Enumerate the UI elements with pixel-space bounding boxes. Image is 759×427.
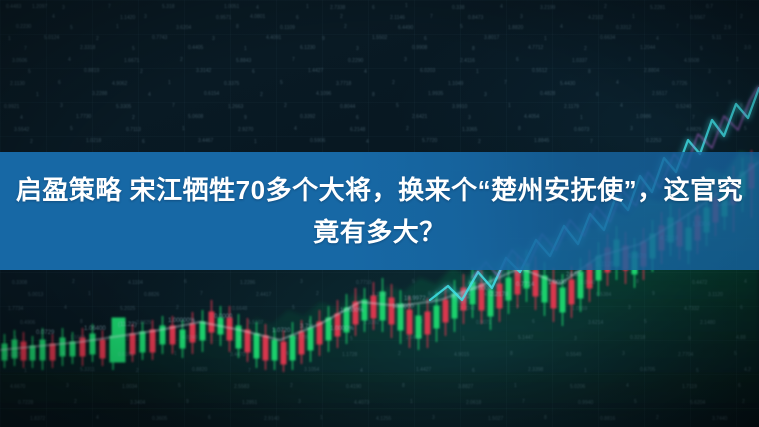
svg-text:5.0013: 5.0013 (28, 292, 44, 298)
svg-text:6: 6 (516, 57, 519, 63)
svg-text:4: 4 (626, 383, 629, 389)
svg-text:4.7712: 4.7712 (528, 45, 544, 51)
svg-text:6: 6 (58, 80, 61, 86)
svg-text:7: 7 (504, 80, 507, 86)
svg-text:7: 7 (172, 103, 175, 109)
svg-text:1: 1 (88, 291, 91, 297)
svg-text:1.0000%: 1.0000% (340, 308, 364, 314)
svg-text:1.1728: 1.1728 (342, 352, 358, 358)
svg-text:4.5508: 4.5508 (684, 58, 700, 64)
svg-text:4: 4 (52, 14, 55, 20)
svg-text:1: 1 (544, 36, 547, 42)
svg-text:0.8816: 0.8816 (600, 416, 616, 422)
svg-text:1.0034: 1.0034 (122, 384, 138, 390)
svg-text:0.0000: 0.0000 (214, 314, 233, 320)
svg-text:0.9571: 0.9571 (216, 15, 232, 21)
svg-text:1.9935: 1.9935 (428, 91, 444, 97)
svg-text:1.2663: 1.2663 (228, 104, 244, 110)
svg-text:1.7734: 1.7734 (8, 306, 24, 312)
svg-text:4: 4 (360, 368, 363, 374)
svg-text:6: 6 (356, 115, 359, 121)
svg-text:24.55: 24.55 (566, 272, 582, 278)
svg-text:0.7726: 0.7726 (672, 81, 688, 87)
svg-text:1.0000%: 1.0000% (330, 326, 354, 332)
svg-text:5: 5 (460, 24, 463, 30)
svg-text:8: 8 (740, 103, 743, 109)
svg-text:1.1072: 1.1072 (452, 294, 471, 300)
svg-text:2: 2 (136, 368, 139, 374)
svg-text:0.5384: 0.5384 (596, 292, 612, 298)
svg-text:4: 4 (68, 57, 71, 63)
svg-text:2: 2 (284, 103, 287, 109)
svg-text:1: 1 (168, 80, 171, 86)
svg-text:1: 1 (405, 3, 408, 9)
svg-text:5: 5 (350, 336, 353, 342)
svg-text:5: 5 (70, 25, 73, 31)
svg-text:8: 8 (518, 126, 521, 132)
svg-text:5: 5 (644, 319, 647, 325)
svg-text:8: 8 (636, 279, 639, 285)
svg-text:2.1130: 2.1130 (10, 81, 25, 87)
svg-text:1: 1 (736, 57, 739, 63)
svg-text:4.9062: 4.9062 (112, 81, 128, 87)
svg-text:7: 7 (126, 336, 129, 342)
svg-text:0.4483: 0.4483 (6, 4, 22, 10)
svg-text:2.2178: 2.2178 (490, 292, 509, 298)
svg-text:0.0729: 0.0729 (36, 330, 55, 336)
svg-text:2: 2 (260, 92, 263, 98)
svg-text:1: 1 (476, 69, 479, 75)
svg-text:6: 6 (596, 92, 599, 98)
screenshot-root: 0.44831.20973 75.3181.0051 412.7338 610.… (0, 0, 759, 427)
svg-text:0.5567: 0.5567 (690, 15, 706, 21)
svg-text:4.88: 4.88 (736, 335, 746, 341)
svg-text:2.6421: 2.6421 (412, 114, 428, 120)
svg-text:2: 2 (290, 383, 293, 389)
svg-text:3: 3 (540, 291, 543, 297)
svg-text:4: 4 (20, 115, 23, 121)
svg-text:5: 5 (734, 351, 737, 357)
svg-text:1.0720: 1.0720 (272, 328, 291, 334)
svg-text:3.4467: 3.4467 (198, 138, 214, 144)
svg-text:7: 7 (292, 57, 295, 63)
svg-text:1: 1 (320, 415, 323, 421)
svg-text:1.8372: 1.8372 (30, 416, 46, 422)
svg-text:0.3392: 0.3392 (300, 114, 316, 120)
svg-text:0.7714: 0.7714 (516, 282, 535, 288)
svg-text:2: 2 (740, 14, 743, 20)
svg-text:0.4472: 0.4472 (692, 280, 708, 286)
svg-text:1.7730: 1.7730 (76, 114, 92, 120)
svg-text:8: 8 (402, 383, 405, 389)
svg-text:1: 1 (508, 103, 511, 109)
svg-text:9: 9 (244, 115, 247, 121)
svg-text:3: 3 (520, 14, 523, 20)
svg-text:0.5512: 0.5512 (532, 68, 548, 74)
svg-text:1.0337: 1.0337 (572, 58, 588, 64)
svg-text:2.9140: 2.9140 (264, 416, 280, 422)
svg-text:2.0327: 2.0327 (6, 352, 22, 358)
svg-text:2: 2 (30, 139, 33, 145)
svg-text:3: 3 (468, 115, 471, 121)
svg-text:19.0000: 19.0000 (470, 286, 492, 292)
svg-text:0.2253: 0.2253 (646, 138, 662, 144)
svg-text:1: 1 (514, 383, 517, 389)
svg-text:1.0559: 1.0559 (572, 306, 588, 312)
svg-text:2: 2 (132, 115, 135, 121)
svg-text:7: 7 (676, 24, 679, 30)
svg-text:2.4116: 2.4116 (460, 58, 475, 64)
svg-text:6: 6 (428, 291, 431, 297)
svg-text:4.4054: 4.4054 (524, 114, 540, 120)
svg-text:8: 8 (588, 69, 591, 75)
svg-text:5.6204: 5.6204 (690, 400, 706, 406)
svg-text:2.2248: 2.2248 (460, 306, 476, 312)
svg-text:2: 2 (316, 291, 319, 297)
svg-text:5: 5 (412, 279, 415, 285)
svg-text:1: 1 (462, 336, 465, 342)
svg-text:2.3318: 2.3318 (80, 45, 96, 51)
svg-text:6: 6 (424, 36, 427, 42)
svg-text:2: 2 (180, 57, 183, 63)
svg-text:4.0240: 4.0240 (182, 335, 198, 341)
svg-text:9: 9 (628, 57, 631, 63)
svg-text:9: 9 (322, 36, 325, 42)
svg-text:1: 1 (306, 4, 309, 10)
svg-text:7: 7 (590, 139, 593, 145)
svg-text:1.0051: 1.0051 (224, 4, 240, 10)
svg-text:0.7795: 0.7795 (294, 335, 310, 341)
svg-text:1: 1 (410, 399, 413, 405)
svg-text:0.4906: 0.4906 (20, 320, 36, 326)
svg-text:2.8825: 2.8825 (136, 320, 152, 326)
svg-text:0.9071: 0.9071 (476, 320, 492, 326)
svg-text:3.7440: 3.7440 (712, 416, 728, 422)
svg-text:5: 5 (292, 305, 295, 311)
svg-text:2.3398: 2.3398 (528, 367, 544, 373)
svg-text:0.6105: 0.6105 (118, 352, 134, 358)
svg-text:1.5563: 1.5563 (70, 335, 86, 341)
svg-text:0.6073: 0.6073 (574, 127, 590, 133)
svg-text:5: 5 (700, 46, 703, 52)
svg-text:5.3311: 5.3311 (80, 367, 95, 373)
svg-text:4: 4 (256, 5, 259, 11)
svg-text:18.9972: 18.9972 (404, 296, 426, 302)
svg-text:0.5549: 0.5549 (566, 352, 582, 358)
svg-text:3: 3 (432, 415, 435, 421)
svg-text:6.2148: 6.2148 (350, 127, 366, 133)
svg-text:1.7119: 1.7119 (682, 384, 697, 390)
svg-text:3.0: 3.0 (744, 45, 751, 51)
svg-text:1.3365: 1.3365 (462, 127, 478, 133)
svg-text:1: 1 (580, 115, 583, 121)
svg-text:0.4405: 0.4405 (188, 45, 204, 51)
svg-text:5: 5 (178, 383, 181, 389)
svg-text:2: 2 (604, 4, 607, 10)
svg-text:5.2025: 5.2025 (120, 306, 136, 312)
svg-text:5: 5 (132, 46, 135, 52)
svg-text:3.4470: 3.4470 (230, 352, 246, 358)
svg-text:0.3375: 0.3375 (224, 81, 240, 87)
svg-text:3: 3 (704, 139, 707, 145)
svg-text:2: 2 (74, 399, 77, 405)
svg-text:0.3308: 0.3308 (12, 280, 28, 286)
svg-text:7: 7 (200, 291, 203, 297)
svg-text:5.3305: 5.3305 (116, 104, 132, 110)
svg-text:3.9910: 3.9910 (452, 104, 468, 110)
svg-text:2: 2 (238, 336, 241, 342)
svg-text:8: 8 (510, 351, 513, 357)
svg-text:6: 6 (472, 368, 475, 374)
svg-text:4: 4 (364, 69, 367, 75)
svg-text:1.8820: 1.8820 (508, 25, 524, 31)
svg-text:7: 7 (248, 368, 251, 374)
svg-text:4: 4 (656, 36, 659, 42)
svg-text:0.7710: 0.7710 (356, 280, 372, 286)
svg-text:0.6634: 0.6634 (600, 35, 616, 41)
svg-text:5.7720: 5.7720 (422, 138, 438, 144)
svg-text:6: 6 (372, 5, 375, 11)
svg-text:1.0986: 1.0986 (636, 114, 652, 120)
svg-text:6: 6 (740, 305, 743, 311)
svg-text:5: 5 (28, 69, 31, 75)
svg-text:1: 1 (24, 368, 27, 374)
svg-text:0.7743: 0.7743 (152, 35, 168, 41)
svg-text:0.338: 0.338 (452, 5, 465, 11)
svg-text:2.8804: 2.8804 (644, 68, 660, 74)
svg-text:1.1420: 1.1420 (120, 15, 136, 21)
svg-text:1.3392: 1.3392 (364, 320, 380, 326)
svg-text:3: 3 (628, 305, 631, 311)
svg-text:0.6705: 0.6705 (640, 367, 656, 373)
svg-text:4: 4 (620, 103, 623, 109)
svg-text:7: 7 (24, 46, 27, 52)
svg-text:7: 7 (522, 399, 525, 405)
svg-text:4: 4 (616, 80, 619, 86)
svg-text:8: 8 (472, 46, 475, 52)
svg-text:6.4490: 6.4490 (398, 25, 414, 31)
svg-text:1: 1 (116, 24, 119, 30)
svg-text:1.8845: 1.8845 (534, 138, 550, 144)
headline-line-2: 竟有多大？ (313, 211, 446, 253)
svg-text:0.3218: 0.3218 (630, 335, 646, 341)
svg-text:3.8017: 3.8017 (484, 35, 500, 41)
svg-text:7: 7 (516, 305, 519, 311)
svg-text:1.06400: 1.06400 (84, 326, 106, 332)
svg-text:5.1447: 5.1447 (518, 335, 534, 341)
svg-text:6: 6 (532, 319, 535, 325)
svg-text:3: 3 (404, 57, 407, 63)
svg-text:4.0801: 4.0801 (250, 14, 266, 20)
svg-text:5.4430: 5.4430 (560, 81, 576, 87)
svg-text:0.8044: 0.8044 (340, 104, 356, 110)
svg-text:3.6214: 3.6214 (588, 320, 604, 326)
svg-text:5: 5 (70, 126, 73, 132)
svg-text:2: 2 (340, 14, 343, 20)
svg-text:2: 2 (392, 80, 395, 86)
svg-text:1: 1 (716, 92, 719, 98)
svg-text:2: 2 (584, 46, 587, 52)
svg-text:1.0000: 1.0000 (548, 280, 567, 286)
svg-text:9: 9 (728, 80, 731, 86)
svg-text:2: 2 (398, 351, 401, 357)
svg-text:1.5027: 1.5027 (488, 416, 504, 422)
svg-text:0.7: 0.7 (706, 4, 713, 10)
svg-text:5: 5 (634, 399, 637, 405)
svg-text:5.8843: 5.8843 (236, 58, 252, 64)
svg-text:9: 9 (652, 291, 655, 297)
svg-text:4.1255: 4.1255 (376, 416, 392, 422)
svg-text:7: 7 (430, 14, 433, 20)
svg-text:3: 3 (212, 36, 215, 42)
svg-text:3: 3 (484, 92, 487, 98)
svg-text:1.0218: 1.0218 (86, 138, 102, 144)
svg-text:5: 5 (280, 80, 283, 86)
svg-text:5.0206: 5.0206 (570, 384, 586, 390)
svg-text:3: 3 (708, 69, 711, 75)
svg-text:1: 1 (244, 46, 247, 52)
svg-text:6.0203: 6.0203 (420, 68, 436, 74)
svg-text:8: 8 (372, 92, 375, 98)
svg-text:6: 6 (142, 139, 145, 145)
svg-text:1.5502: 1.5502 (372, 35, 388, 41)
svg-text:4.7332: 4.7332 (684, 306, 700, 312)
svg-text:4: 4 (366, 139, 369, 145)
svg-text:1.1190: 1.1190 (372, 292, 387, 298)
svg-text:5: 5 (396, 103, 399, 109)
svg-text:9: 9 (186, 399, 189, 405)
svg-text:3: 3 (298, 399, 301, 405)
svg-text:5.0124: 5.0124 (44, 35, 60, 41)
svg-text:3.1120: 3.1120 (708, 292, 723, 298)
svg-text:0.5906: 0.5906 (310, 138, 326, 144)
svg-text:1: 1 (254, 139, 257, 145)
svg-text:0.4828: 0.4828 (540, 91, 556, 97)
svg-text:3: 3 (630, 126, 633, 132)
svg-text:1.2286: 1.2286 (240, 280, 256, 286)
svg-text:1: 1 (182, 126, 185, 132)
svg-text:3.8827: 3.8827 (458, 384, 474, 390)
svg-text:7: 7 (108, 4, 111, 10)
svg-text:9: 9 (688, 336, 691, 342)
svg-text:4: 4 (148, 92, 151, 98)
svg-text:1.1049: 1.1049 (448, 81, 464, 87)
svg-text:0.9908: 0.9908 (412, 45, 428, 51)
svg-text:6.1230: 6.1230 (300, 45, 316, 51)
svg-text:5.11: 5.11 (712, 35, 722, 41)
svg-text:2: 2 (742, 399, 745, 405)
svg-text:8: 8 (544, 415, 547, 421)
svg-text:4.2102: 4.2102 (588, 15, 604, 21)
svg-text:1: 1 (632, 14, 635, 20)
svg-text:0.1109: 0.1109 (280, 25, 295, 31)
svg-text:3.3142: 3.3142 (196, 68, 212, 74)
svg-text:3: 3 (300, 279, 303, 285)
svg-text:1: 1 (8, 36, 11, 42)
svg-text:6: 6 (296, 15, 299, 21)
svg-text:5.5107: 5.5107 (248, 320, 264, 326)
svg-text:8: 8 (80, 319, 83, 325)
svg-text:2.7704: 2.7704 (678, 352, 694, 358)
svg-text:2: 2 (140, 69, 143, 75)
svg-text:0.9921: 0.9921 (4, 104, 20, 110)
svg-text:3.2288: 3.2288 (92, 91, 108, 97)
svg-text:6: 6 (208, 415, 211, 421)
svg-text:2: 2 (656, 415, 659, 421)
svg-text:4.6670: 4.6670 (10, 384, 26, 390)
svg-text:2: 2 (406, 126, 409, 132)
svg-text:2.1179: 2.1179 (564, 104, 579, 110)
svg-text:1.2097: 1.2097 (32, 4, 48, 10)
svg-text:0.7113: 0.7113 (126, 127, 141, 133)
svg-text:4.4073: 4.4073 (354, 400, 370, 406)
svg-text:2.1146: 2.1146 (390, 15, 405, 21)
svg-text:4.2: 4.2 (744, 367, 751, 373)
svg-text:0.6154: 0.6154 (204, 91, 220, 97)
svg-text:0.3312: 0.3312 (616, 25, 632, 31)
svg-text:10.0000: 10.0000 (392, 304, 414, 310)
svg-text:1.00000%: 1.00000% (168, 318, 196, 324)
svg-text:4: 4 (96, 415, 99, 421)
svg-text:3: 3 (144, 14, 147, 20)
svg-text:3: 3 (66, 383, 69, 389)
svg-text:4: 4 (560, 24, 563, 30)
svg-text:3: 3 (14, 336, 17, 342)
svg-text:2.4417: 2.4417 (256, 292, 272, 298)
svg-text:0.3605: 0.3605 (152, 416, 168, 422)
svg-text:4: 4 (294, 126, 297, 132)
svg-text:2: 2 (344, 24, 347, 30)
svg-text:4.1096: 4.1096 (316, 91, 332, 97)
svg-text:5: 5 (696, 368, 699, 374)
svg-text:3.3404: 3.3404 (130, 400, 146, 406)
svg-text:1.4427: 1.4427 (308, 68, 324, 74)
svg-text:0.9940: 0.9940 (578, 400, 594, 406)
svg-text:3.0506: 3.0506 (12, 58, 28, 64)
svg-text:0.2230: 0.2230 (16, 24, 32, 30)
svg-text:2.5583: 2.5583 (234, 384, 250, 390)
svg-text:4: 4 (62, 351, 65, 357)
svg-text:6: 6 (252, 69, 255, 75)
svg-text:0.8820: 0.8820 (192, 367, 208, 373)
svg-text:2.5517: 2.5517 (652, 91, 668, 97)
svg-text:6: 6 (738, 383, 741, 389)
svg-text:4: 4 (744, 279, 747, 285)
svg-text:4.8829: 4.8829 (686, 127, 702, 133)
svg-text:0.8473: 0.8473 (468, 15, 484, 21)
svg-text:3.1054: 3.1054 (304, 367, 320, 373)
svg-text:0.4190: 0.4190 (346, 384, 362, 390)
svg-text:5: 5 (744, 126, 747, 132)
headline-line-1: 启盈策略 宋江牺牲70多个大将，换来个“楚州安抚使”，这官究 (16, 169, 743, 211)
svg-text:1.4427: 1.4427 (416, 367, 432, 373)
svg-text:3: 3 (62, 5, 65, 11)
svg-text:1: 1 (174, 351, 177, 357)
svg-text:2.9: 2.9 (724, 25, 731, 31)
svg-text:0.6648: 0.6648 (232, 306, 248, 312)
svg-text:0.8826: 0.8826 (144, 292, 160, 298)
svg-text:4: 4 (64, 305, 67, 311)
svg-text:1: 1 (584, 368, 587, 374)
svg-text:3.6204: 3.6204 (176, 25, 192, 31)
svg-text:0.7228: 0.7228 (18, 400, 34, 406)
svg-text:6: 6 (286, 351, 289, 357)
svg-text:1.6671: 1.6671 (124, 58, 140, 64)
svg-text:4.4091: 4.4091 (266, 35, 282, 41)
svg-text:0.8819: 0.8819 (84, 68, 100, 74)
svg-text:2: 2 (176, 305, 179, 311)
svg-text:3.7%: 3.7% (300, 324, 314, 330)
